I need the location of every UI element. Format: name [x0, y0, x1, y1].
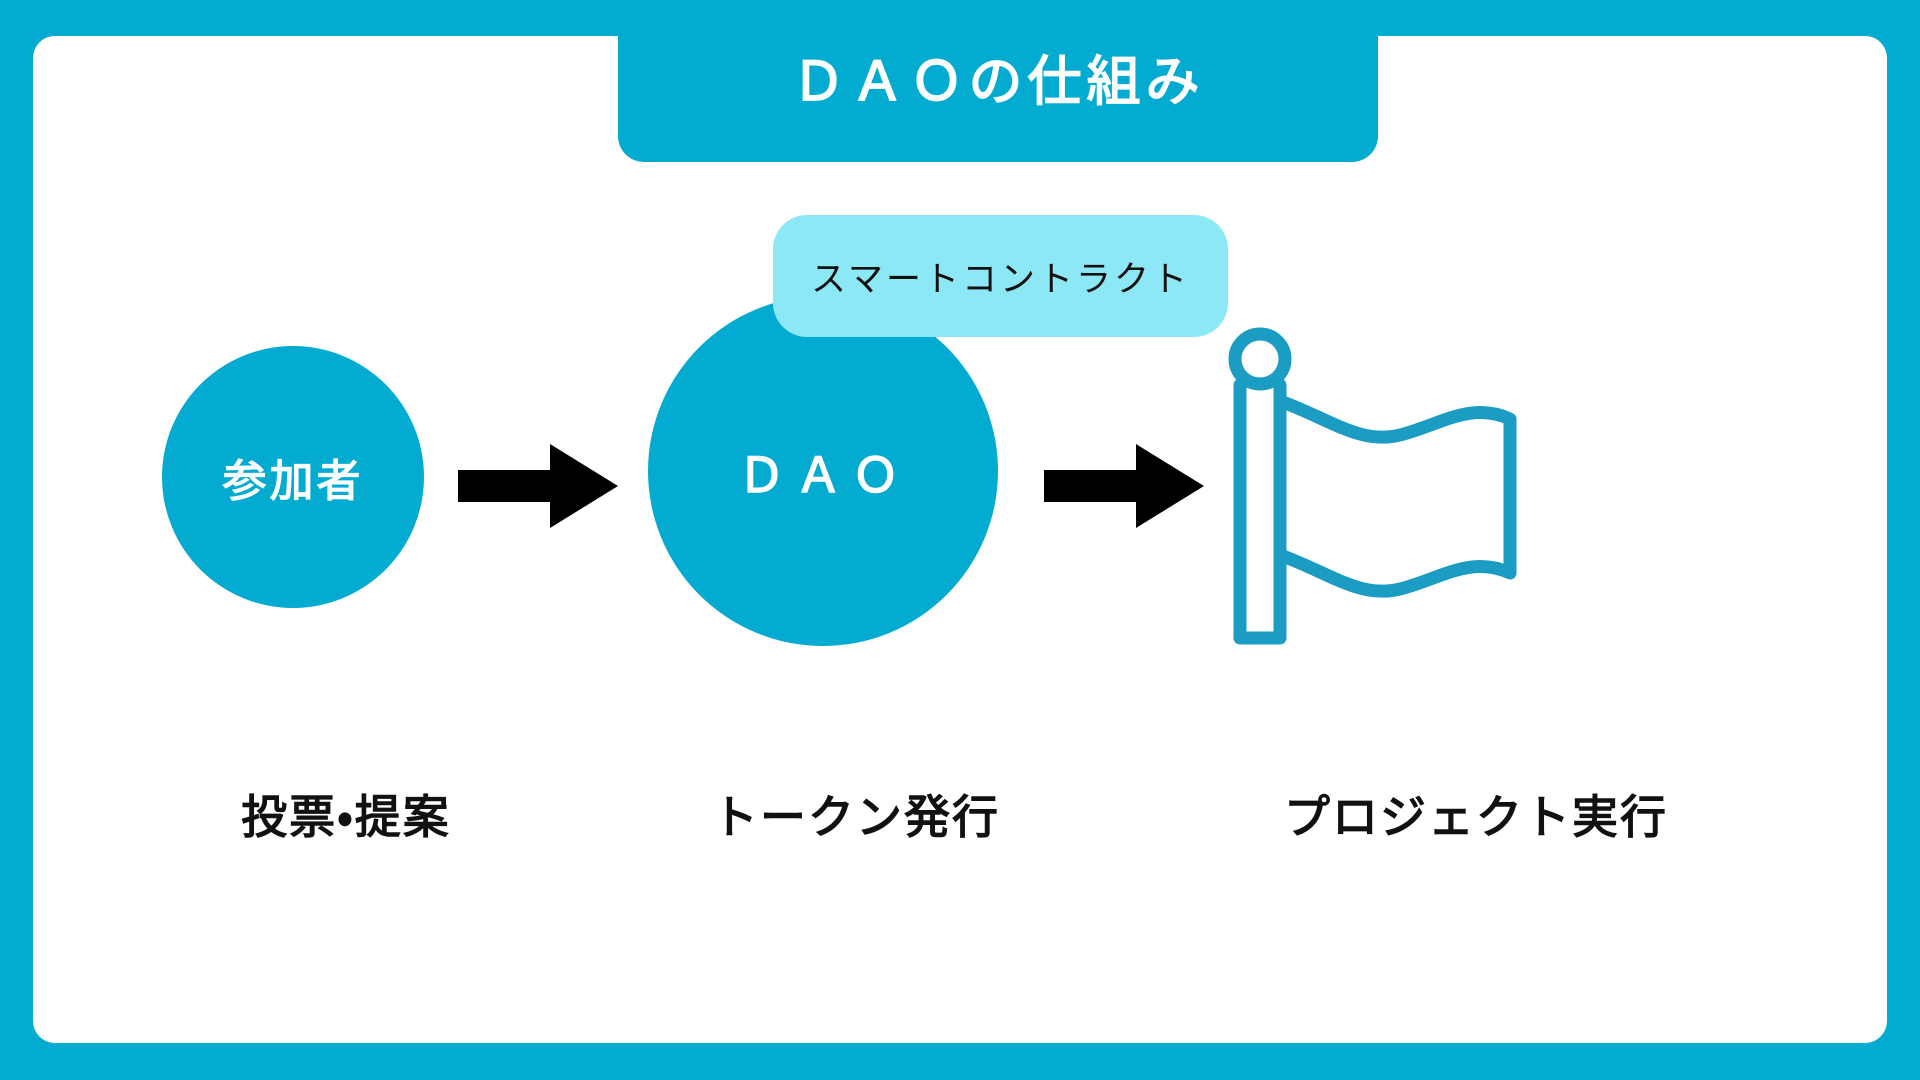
node-dao-label: ＤＡＯ: [737, 436, 908, 506]
page-title: ＤＡＯの仕組み: [792, 54, 1205, 111]
flag-icon: [1226, 323, 1526, 658]
smart-contract-badge-label: スマートコントラクト: [811, 251, 1190, 302]
caption-project: プロジェクト実行: [1126, 781, 1826, 847]
caption-participant: 投票・提案: [66, 781, 626, 847]
smart-contract-badge: スマートコントラクト: [773, 215, 1228, 337]
caption-dao: トークン発行: [576, 781, 1136, 847]
arrow-right-icon: [1044, 444, 1204, 533]
caption-row: 投票・提案 トークン発行 プロジェクト実行: [66, 781, 1920, 891]
node-participant-label: 参加者: [223, 445, 364, 509]
flow-diagram: 参加者 ＤＡＯ: [66, 336, 1920, 756]
content-card: ＤＡＯの仕組み スマートコントラクト 参加者 ＤＡＯ: [33, 36, 1887, 1043]
arrow-right-icon: [458, 444, 618, 533]
slide-canvas: ＤＡＯの仕組み スマートコントラクト 参加者 ＤＡＯ: [0, 0, 1920, 1080]
node-participant: 参加者: [162, 346, 424, 608]
title-banner: ＤＡＯの仕組み: [618, 36, 1378, 162]
node-dao: ＤＡＯ: [648, 296, 998, 646]
